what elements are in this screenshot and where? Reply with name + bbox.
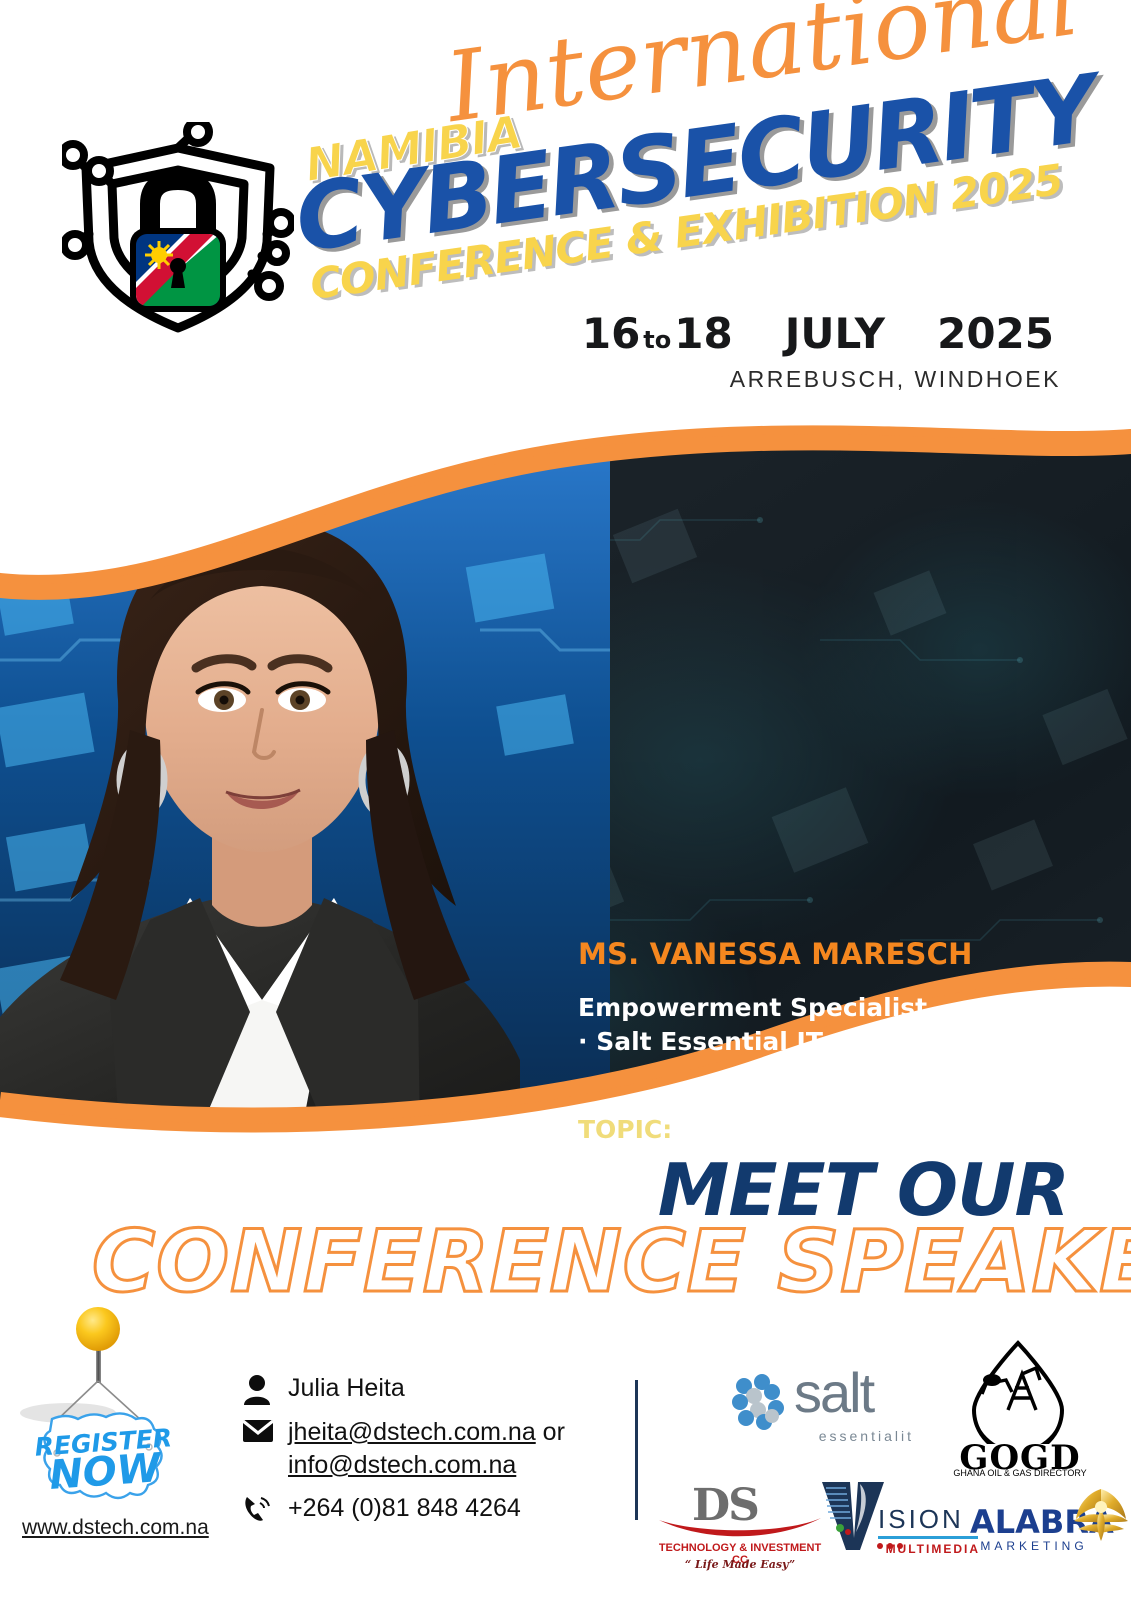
date-day-end: 18: [674, 309, 732, 358]
envelope-icon: [242, 1416, 288, 1444]
sponsor-logo-vision-multimedia: ISION MULTIMEDIA: [820, 1480, 980, 1580]
register-badge-line2: NOW: [48, 1445, 164, 1499]
event-month: JULY: [759, 309, 911, 358]
date-to-label: to: [640, 326, 674, 354]
salt-tagline: essentialit: [794, 1428, 914, 1444]
sponsor-logo-gogd: GOGD GHANA OIL & GAS DIRECTORY: [950, 1340, 1090, 1482]
hero-section: MS. VANESSA MARESCH Empowerment Speciali…: [0, 400, 1131, 1140]
sponsor-logo-salt: salt essentialit: [728, 1362, 918, 1452]
contact-row-email: jheita@dstech.com.na orinfo@dstech.com.n…: [242, 1416, 602, 1482]
vision-tagline: MULTIMEDIA: [860, 1542, 980, 1556]
register-now-badge[interactable]: REGISTER NOW: [18, 1295, 208, 1510]
gogd-tagline: GHANA OIL & GAS DIRECTORY: [950, 1468, 1090, 1478]
sponsor-logo-alabra-marketing: ALABRA MARKETING: [970, 1495, 1125, 1580]
salt-molecule-icon: [728, 1372, 790, 1434]
speaker-photo: [0, 400, 610, 1140]
sponsor-logo-ds-technology: DS TECHNOLOGY & INVESTMENT CC “ Life Mad…: [650, 1480, 830, 1580]
ds-slogan: “ Life Made Easy”: [650, 1558, 830, 1571]
email-link-2[interactable]: info@dstech.com.na: [288, 1451, 516, 1479]
gogd-oil-drop-icon: [966, 1340, 1070, 1444]
topic-label: TOPIC:: [578, 1115, 1058, 1144]
shield-padlock-namibia-flag-icon: [62, 122, 294, 344]
alabra-wings-icon: [1068, 1485, 1131, 1547]
headline-conference-speaker: CONFERENCE SPEAKER: [92, 1212, 1072, 1312]
date-day-start: 16: [582, 309, 640, 358]
contact-emails: jheita@dstech.com.na orinfo@dstech.com.n…: [288, 1416, 565, 1482]
contact-sponsor-divider: [635, 1380, 638, 1520]
contact-row-person: Julia Heita: [242, 1372, 602, 1406]
event-location: ARREBUSCH, WINDHOEK: [730, 366, 1061, 393]
speaker-role-line2: · Salt Essential IT: [578, 1025, 1058, 1059]
contact-phone: +264 (0)81 848 4264: [288, 1492, 521, 1525]
salt-wordmark: salt: [794, 1368, 873, 1418]
event-date-bar: 16to18 JULY 2025: [600, 305, 1080, 361]
speaker-name: MS. VANESSA MARESCH: [578, 937, 1058, 971]
contact-person-name: Julia Heita: [288, 1372, 405, 1405]
vision-wordmark: ISION: [878, 1504, 964, 1535]
vision-underline: [878, 1536, 978, 1541]
phone-icon: [242, 1492, 288, 1524]
speaker-role-line1: Empowerment Specialist: [578, 991, 1058, 1025]
poster-header: NAMIBIA CYBERSECURITY CONFERENCE & EXHIB…: [0, 0, 1131, 400]
sponsor-logos: salt essentialit GOGD GHANA OIL & GAS DI…: [650, 1340, 1120, 1590]
email-link-1[interactable]: jheita@dstech.com.na: [288, 1418, 536, 1446]
event-wordmark: NAMIBIA CYBERSECURITY CONFERENCE & EXHIB…: [300, 28, 920, 318]
person-icon: [242, 1372, 288, 1406]
speaker-role: Empowerment Specialist · Salt Essential …: [578, 991, 1058, 1059]
ds-swoosh-icon: [655, 1510, 825, 1544]
website-link[interactable]: www.dstech.com.na: [22, 1516, 209, 1540]
event-year: 2025: [911, 309, 1080, 358]
email-separator: or: [536, 1418, 565, 1446]
contact-row-phone: +264 (0)81 848 4264: [242, 1492, 602, 1525]
event-dates: 16to18: [556, 309, 759, 358]
contact-block: Julia Heita jheita@dstech.com.na orinfo@…: [242, 1372, 602, 1535]
